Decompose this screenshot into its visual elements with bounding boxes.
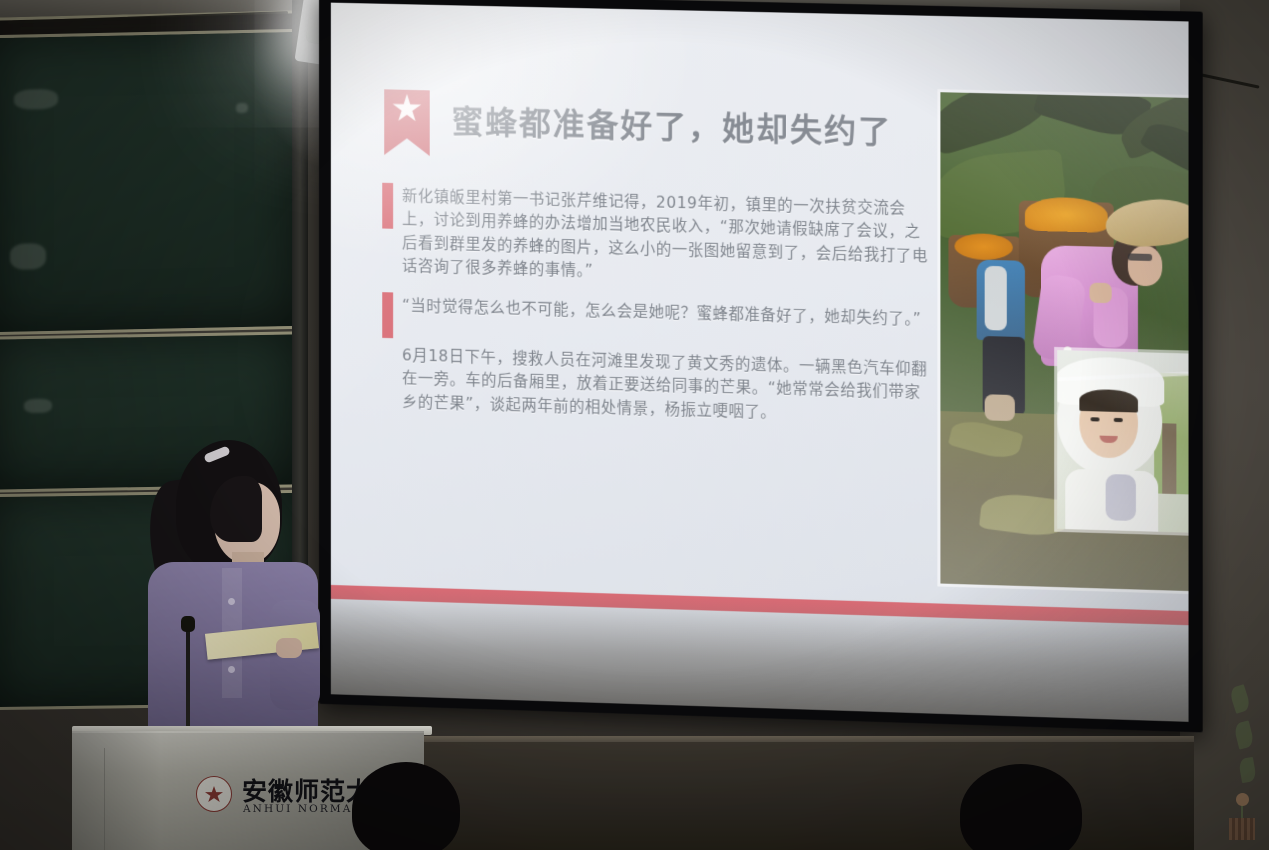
projection-screen-frame: 蜜蜂都准备好了，她却失约了 新化镇皈里村第一书记张芹维记得，2019年初，镇里的… xyxy=(319,0,1203,732)
presentation-slide: 蜜蜂都准备好了，她却失约了 新化镇皈里村第一书记张芹维记得，2019年初，镇里的… xyxy=(331,3,1189,722)
slide-paragraph-1: 新化镇皈里村第一书记张芹维记得，2019年初，镇里的一次扶贫交流会上，讨论到用养… xyxy=(402,185,930,292)
blouse-button xyxy=(228,666,235,673)
microphone-head xyxy=(181,616,195,632)
slide-paragraph-2: “当时觉得怎么也不可能，怎么会是她呢？蜜蜂都准备好了，她却失约了。” xyxy=(402,295,930,332)
blackboard-panel-upper xyxy=(0,29,297,335)
presenter-hand xyxy=(276,638,302,658)
slide-paragraph-3: 6月18日下午，搜救人员在河滩里发现了黄文秀的遗体。一辆黑色汽车仰翻在一旁。车的… xyxy=(402,344,930,429)
paragraph-marker-2 xyxy=(382,292,393,338)
slide-shadow-band xyxy=(331,583,1189,722)
paragraph-marker-1 xyxy=(382,183,393,229)
bookmark-star-icon xyxy=(384,89,430,156)
classroom-presentation-scene: 蜜蜂都准备好了，她却失约了 新化镇皈里村第一书记张芹维记得，2019年初，镇里的… xyxy=(0,0,1269,850)
audience-head-left xyxy=(352,762,460,850)
blouse-button xyxy=(228,598,235,605)
presenter xyxy=(128,440,348,750)
star-icon xyxy=(392,93,422,124)
flowerpot-decal xyxy=(1229,818,1255,840)
flower-decal xyxy=(1236,793,1249,806)
projection-screen: 蜜蜂都准备好了，她却失约了 新化镇皈里村第一书记张芹维记得，2019年初，镇里的… xyxy=(331,3,1189,722)
photo-beekeeper-portrait xyxy=(1057,350,1188,533)
